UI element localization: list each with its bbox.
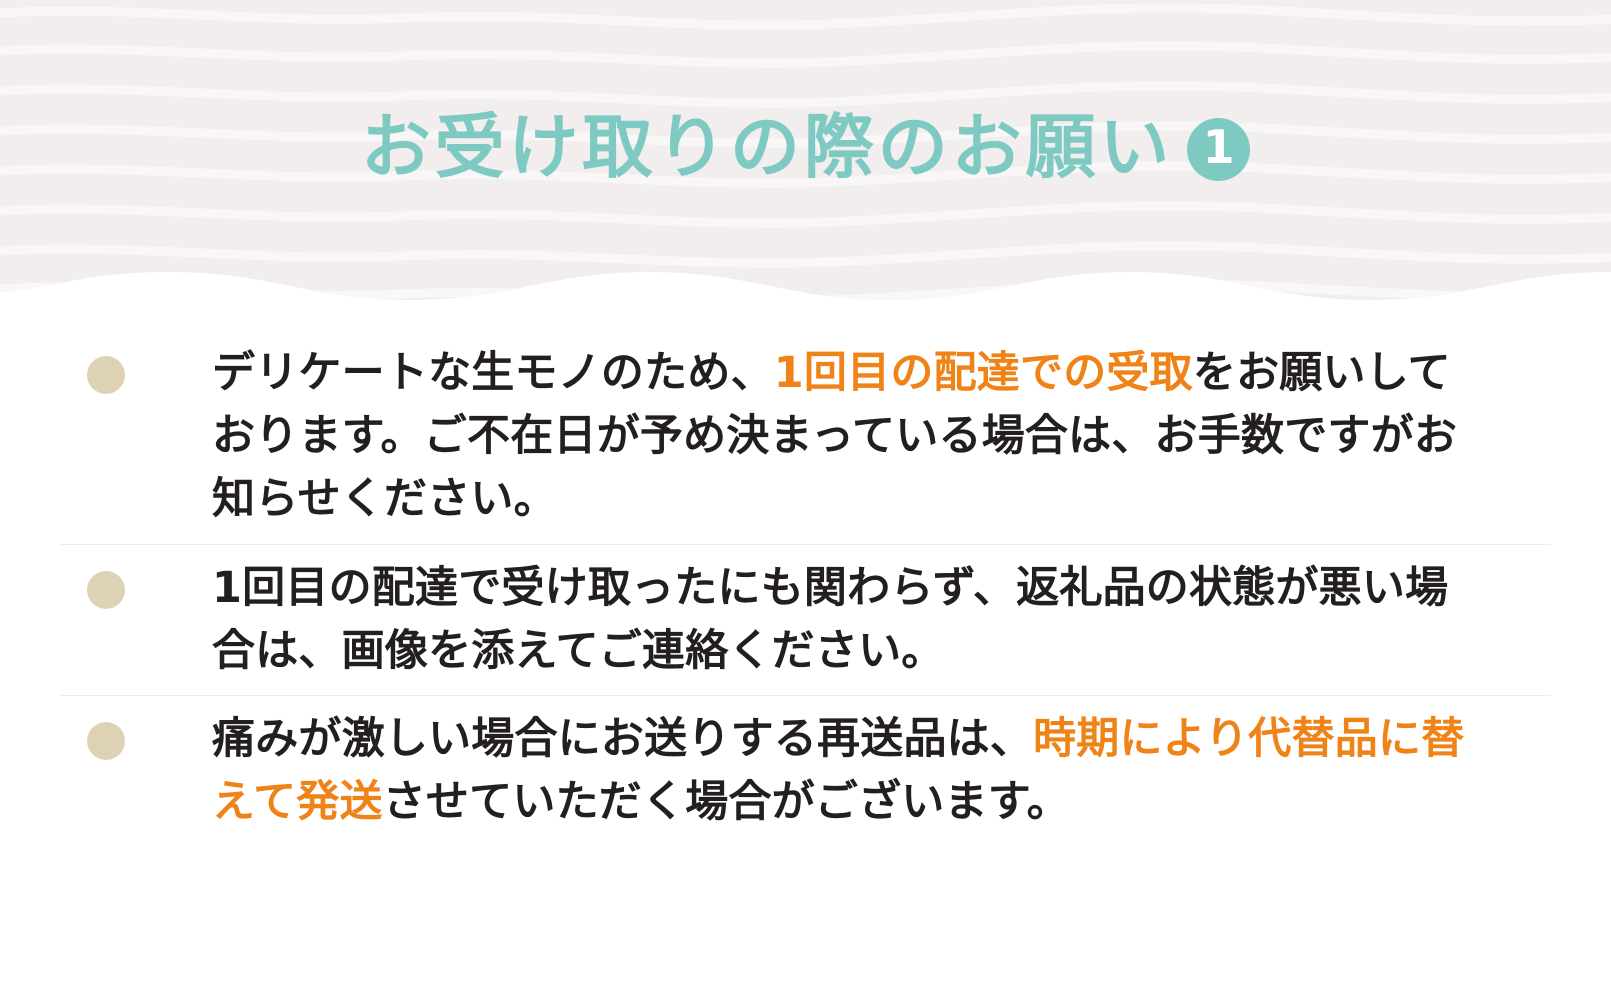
- list-item: 痛みが激しい場合にお送りする再送品は、時期により代替品に替えて発送させていただく…: [0, 696, 1611, 846]
- text-segment: デリケートな生モノのため、: [212, 348, 774, 398]
- bullet-cell: [0, 330, 212, 394]
- highlighted-text-segment: 1回目の配達での受取: [774, 348, 1193, 398]
- notice-list: デリケートな生モノのため、1回目の配達での受取をお願いしております。ご不在日が予…: [0, 330, 1611, 846]
- list-item-text-3: 痛みが激しい場合にお送りする再送品は、時期により代替品に替えて発送させていただく…: [212, 696, 1611, 846]
- text-segment: させていただく場合がございます。: [383, 777, 1070, 827]
- filled-circle-bullet-icon: [87, 356, 125, 394]
- filled-circle-bullet-icon: [87, 571, 125, 609]
- bullet-cell: [0, 696, 212, 760]
- text-segment: 1回目の配達で受け取ったにも関わらず、返礼品の状態が悪い場合は、画像を添えてご連…: [212, 563, 1448, 676]
- header-band: お受け取りの際のお願い 1: [0, 0, 1611, 330]
- notice-page: お受け取りの際のお願い 1 デリケートな生モノのため、1回目の配達での受取をお願…: [0, 0, 1611, 1001]
- list-item-text-1: デリケートな生モノのため、1回目の配達での受取をお願いしております。ご不在日が予…: [212, 330, 1611, 544]
- list-item: 1回目の配達で受け取ったにも関わらず、返礼品の状態が悪い場合は、画像を添えてご連…: [0, 545, 1611, 695]
- text-segment: 痛みが激しい場合にお送りする再送品は、: [212, 714, 1033, 764]
- list-item-text-2: 1回目の配達で受け取ったにも関わらず、返礼品の状態が悪い場合は、画像を添えてご連…: [212, 545, 1611, 695]
- header-wave-background: [0, 0, 1611, 330]
- bullet-cell: [0, 545, 212, 609]
- filled-circle-bullet-icon: [87, 722, 125, 760]
- list-item: デリケートな生モノのため、1回目の配達での受取をお願いしております。ご不在日が予…: [0, 330, 1611, 544]
